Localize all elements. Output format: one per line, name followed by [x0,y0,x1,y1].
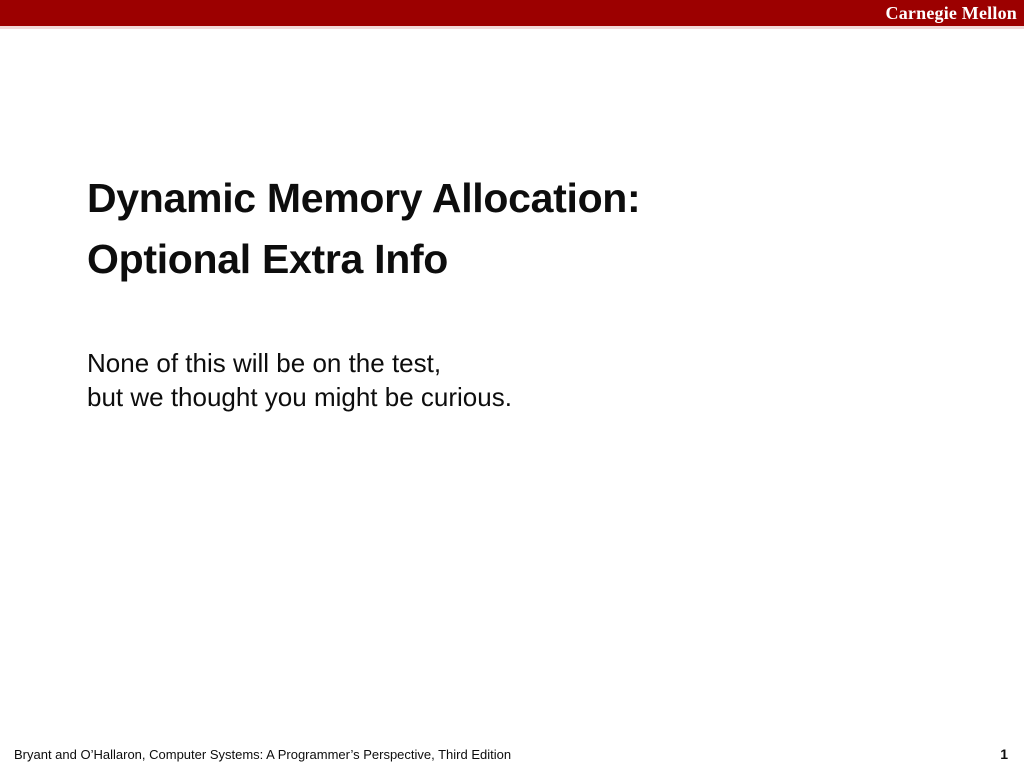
slide-subtitle-line-2: but we thought you might be curious. [87,380,927,414]
carnegie-mellon-wordmark: Carnegie Mellon [886,2,1017,24]
slide-subtitle: None of this will be on the test, but we… [87,346,927,414]
slide-title-line-1: Dynamic Memory Allocation: [87,168,927,229]
slide-title: Dynamic Memory Allocation: Optional Extr… [87,168,927,290]
slide-footer: Bryant and O’Hallaron, Computer Systems:… [0,742,1024,768]
brand-banner: Carnegie Mellon [0,0,1024,26]
slide-body: Dynamic Memory Allocation: Optional Extr… [0,29,1024,729]
slide-subtitle-line-1: None of this will be on the test, [87,346,927,380]
footer-attribution: Bryant and O’Hallaron, Computer Systems:… [14,746,511,764]
slide-title-line-2: Optional Extra Info [87,229,927,290]
footer-page-number: 1 [1000,745,1008,763]
